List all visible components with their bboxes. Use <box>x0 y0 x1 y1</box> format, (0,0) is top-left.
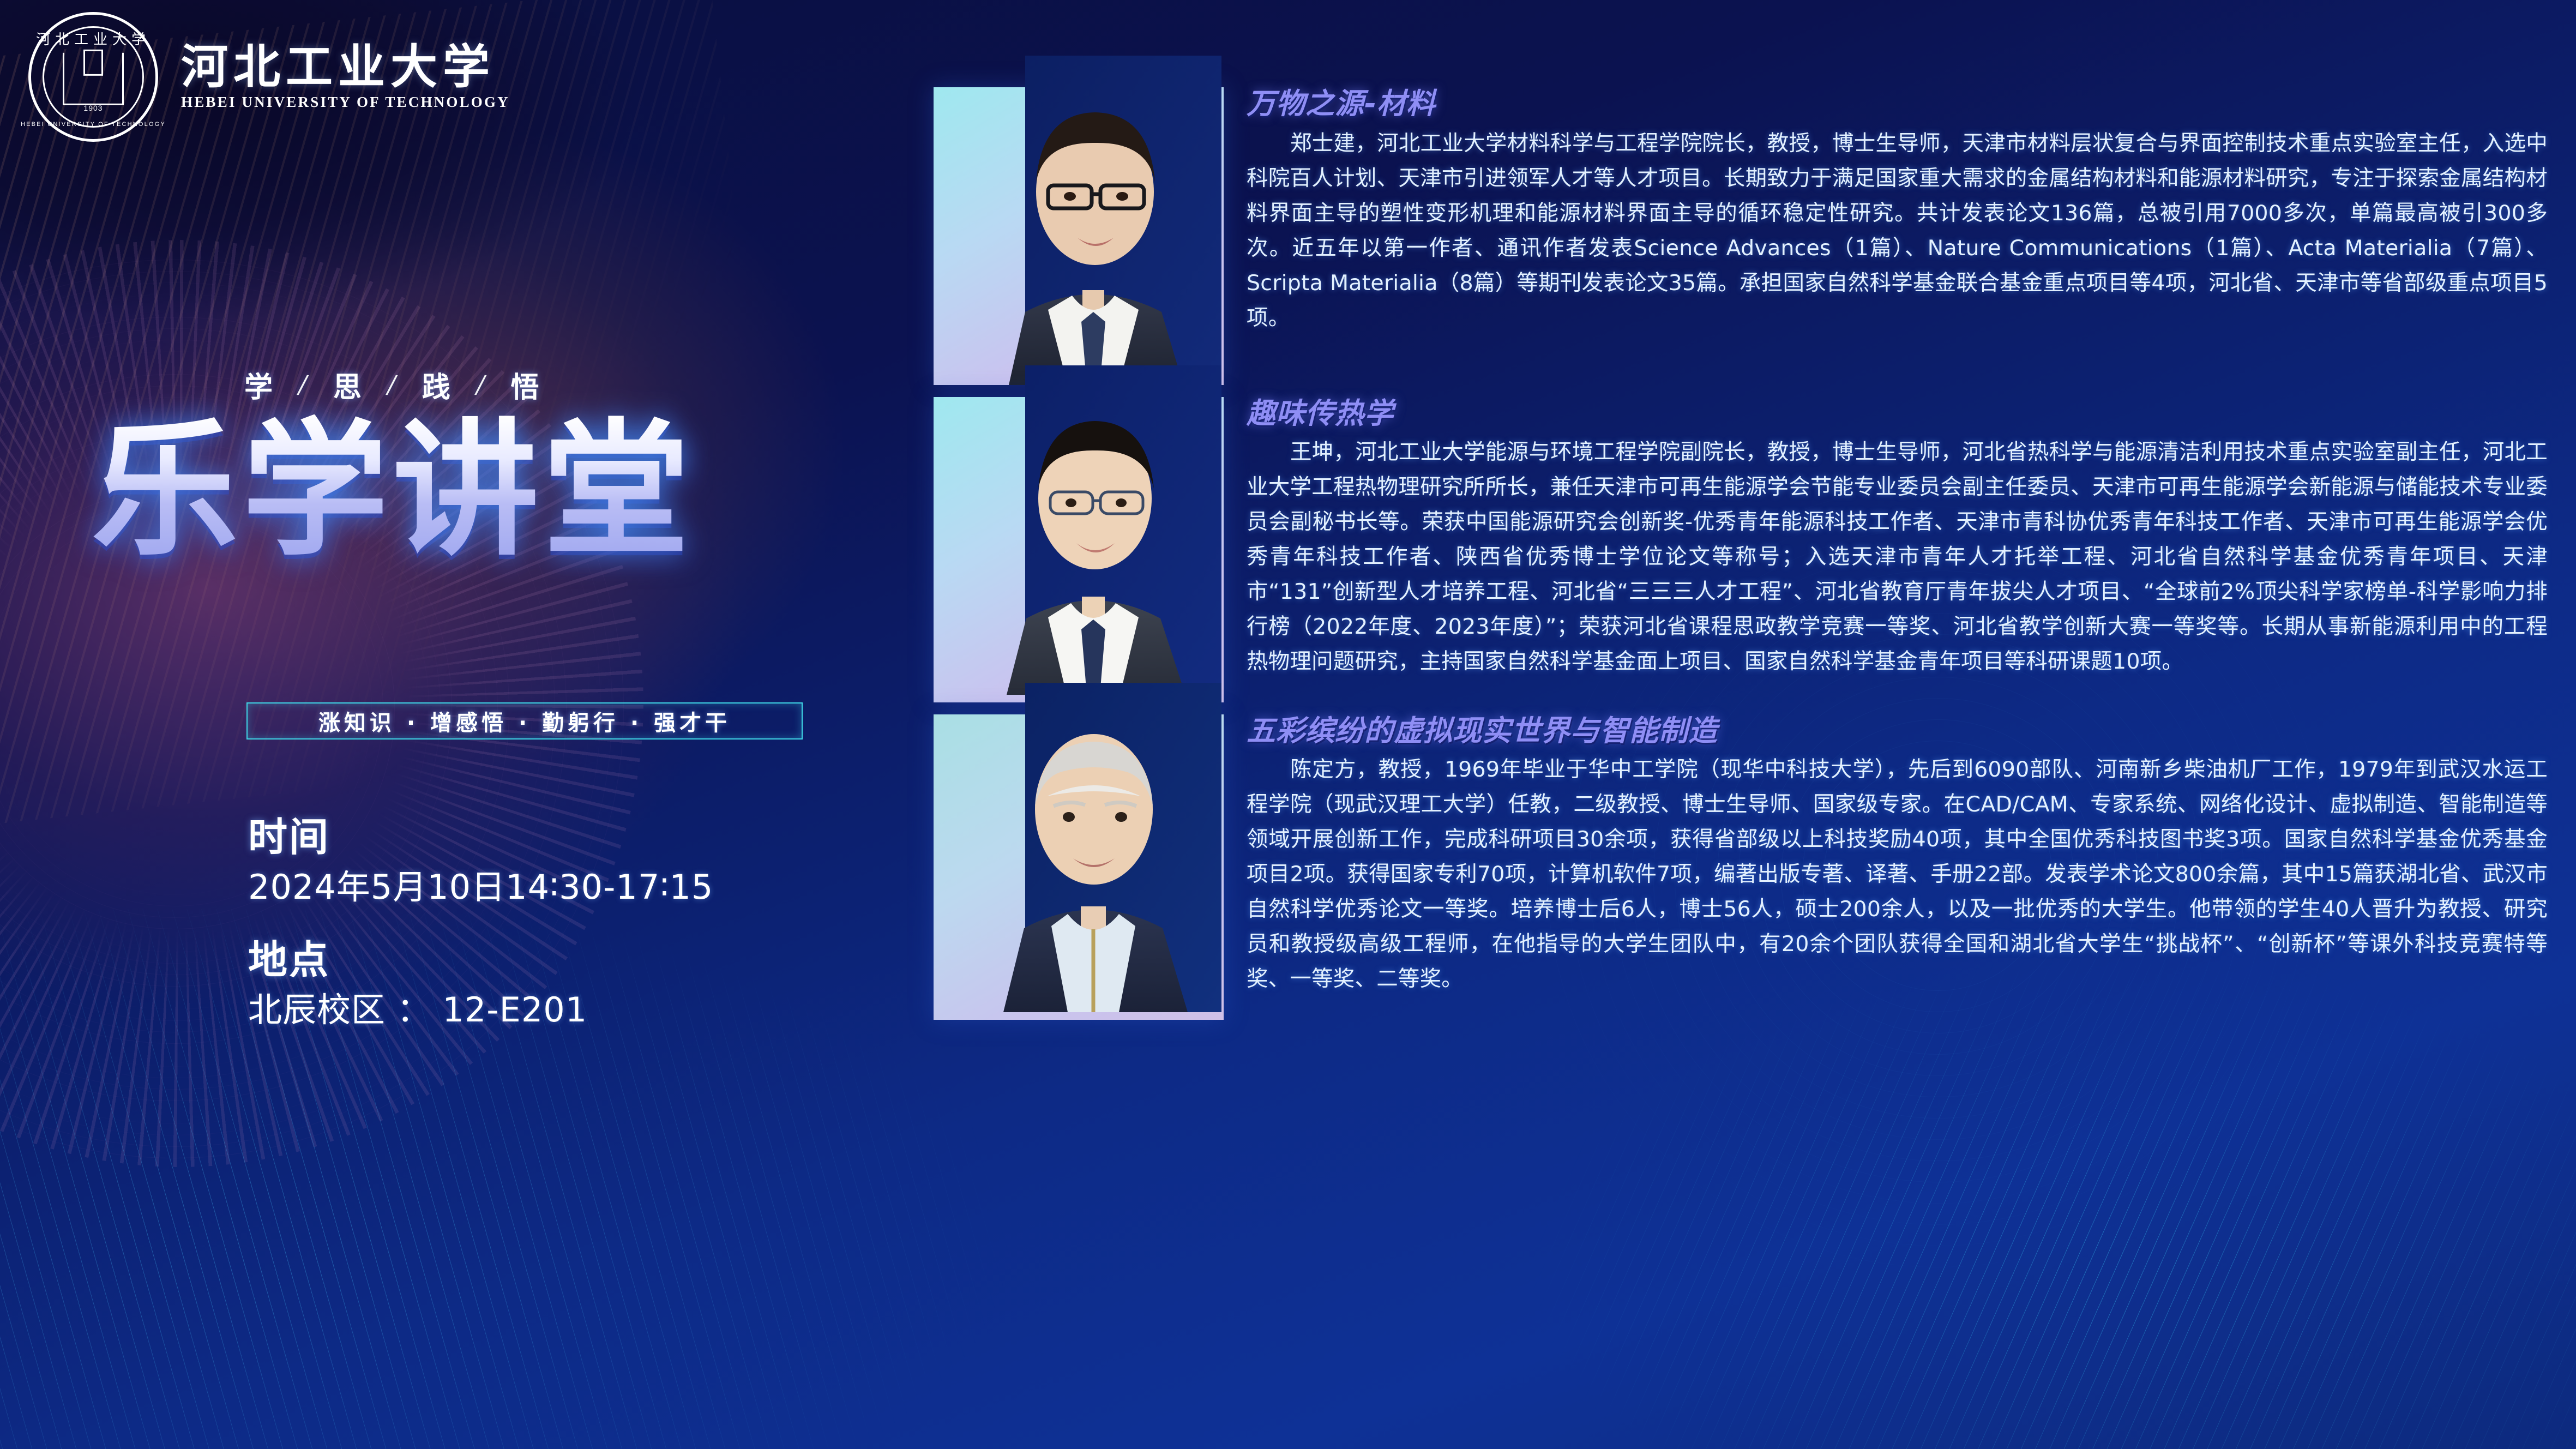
talk-item: 万物之源-材料 郑士建，河北工业大学材料科学与工程学院院长，教授，博士生导师，天… <box>934 87 2548 385</box>
slogan-char-4: 悟 <box>511 364 540 405</box>
talk-text: 趣味传热学 王坤，河北工业大学能源与环境工程学院副院长，教授，博士生导师，河北省… <box>1247 397 2548 680</box>
slogan-separator-3: / <box>473 371 489 399</box>
slogan-char-2: 思 <box>333 364 363 405</box>
speaker-photo-wrap <box>934 87 1224 385</box>
talk-body: 王坤，河北工业大学能源与环境工程学院副院长，教授，博士生导师，河北省热科学与能源… <box>1247 435 2548 680</box>
talk-text: 万物之源-材料 郑士建，河北工业大学材料科学与工程学院院长，教授，博士生导师，天… <box>1247 87 2548 336</box>
university-seal-icon: 河北工业大学 1903 HEBEI UNIVERSITY OF TECHNOLO… <box>28 12 158 142</box>
talk-title: 趣味传热学 <box>1247 398 2548 430</box>
poster-canvas: 河北工业大学 1903 HEBEI UNIVERSITY OF TECHNOLO… <box>0 0 2576 1449</box>
seal-year: 1903 <box>83 104 103 112</box>
hero-subtitle-box: 涨知识 · 增感悟 · 勤躬行 · 强才干 <box>246 702 803 739</box>
hero-subtitle-text: 涨知识 · 增感悟 · 勤躬行 · 强才干 <box>318 705 731 737</box>
talk-item: 五彩缤纷的虚拟现实世界与智能制造 陈定方，教授，1969年毕业于华中工学院（现华… <box>934 714 2548 1020</box>
talk-item: 趣味传热学 王坤，河北工业大学能源与环境工程学院副院长，教授，博士生导师，河北省… <box>934 397 2548 702</box>
university-name-cn: 河北工业大学 <box>181 44 510 91</box>
talk-body: 郑士建，河北工业大学材料科学与工程学院院长，教授，博士生导师，天津市材料层状复合… <box>1247 127 2548 336</box>
university-name-en: HEBEI UNIVERSITY OF TECHNOLOGY <box>181 94 510 111</box>
talk-body: 陈定方，教授，1969年毕业于华中工学院（现华中科技大学），先后到6090部队、… <box>1247 753 2548 997</box>
page-title: 乐学讲堂 <box>92 414 844 568</box>
slogan-separator-2: / <box>384 371 400 399</box>
avatar <box>965 365 1221 695</box>
time-value: 2024年5月10日14∶30-17∶15 <box>248 862 713 912</box>
speaker-photo-wrap <box>934 397 1224 702</box>
university-logo-block: 河北工业大学 1903 HEBEI UNIVERSITY OF TECHNOLO… <box>28 12 510 142</box>
seal-name-cn: 河北工业大学 <box>36 28 151 49</box>
slogan-separator-1: / <box>296 371 311 399</box>
place-label: 地点 <box>248 935 713 984</box>
time-label: 时间 <box>248 813 713 862</box>
slogan-char-1: 学 <box>244 364 274 405</box>
seal-name-en: HEBEI UNIVERSITY OF TECHNOLOGY <box>21 121 166 128</box>
talk-text: 五彩缤纷的虚拟现实世界与智能制造 陈定方，教授，1969年毕业于华中工学院（现华… <box>1247 714 2548 997</box>
avatar <box>965 56 1221 385</box>
event-info-block: 时间 2024年5月10日14∶30-17∶15 地点 北辰校区 ： 12-E2… <box>248 813 713 1035</box>
avatar <box>965 683 1221 1012</box>
hero-slogan-row: 学 / 思 / 践 / 悟 <box>244 364 540 405</box>
talk-title: 万物之源-材料 <box>1247 88 2548 120</box>
speaker-photo-wrap <box>934 714 1224 1020</box>
talk-title: 五彩缤纷的虚拟现实世界与智能制造 <box>1247 716 2548 747</box>
slogan-char-3: 践 <box>422 364 452 405</box>
talks-list: 万物之源-材料 郑士建，河北工业大学材料科学与工程学院院长，教授，博士生导师，天… <box>934 87 2548 1032</box>
place-value: 北辰校区 ： 12-E201 <box>248 984 713 1035</box>
